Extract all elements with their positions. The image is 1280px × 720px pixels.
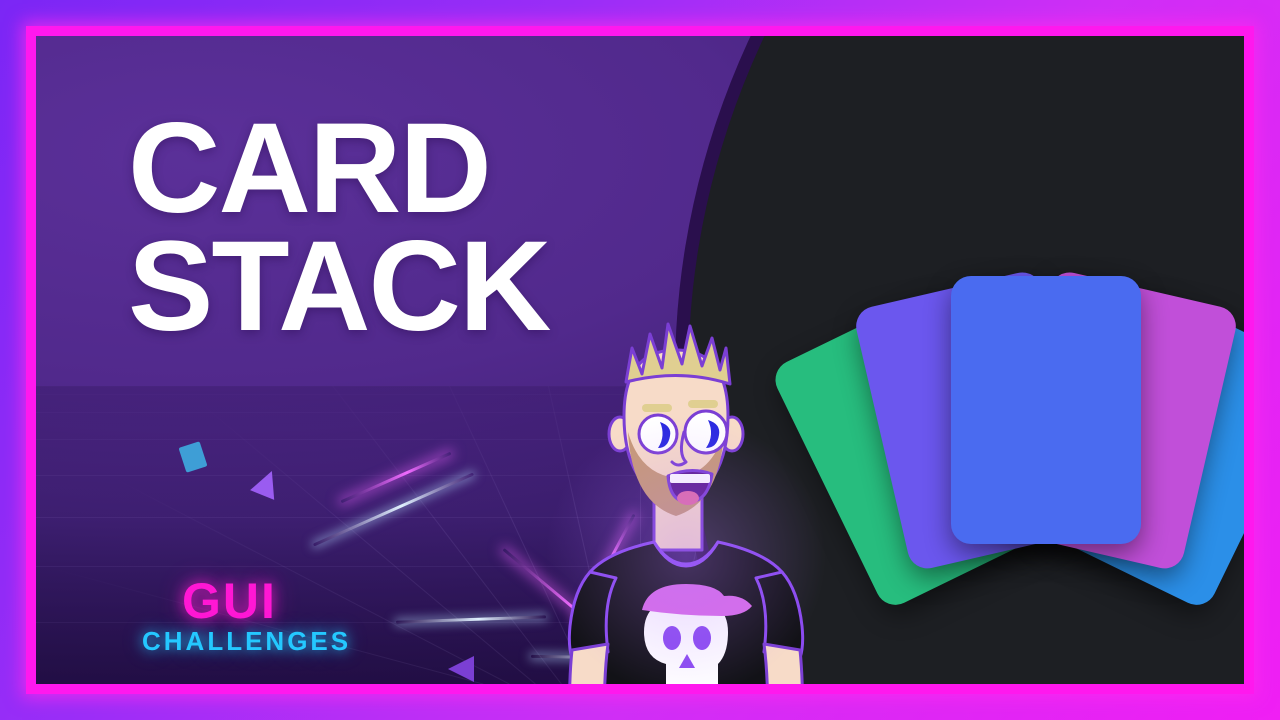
triangle-purple	[448, 656, 474, 682]
brand-logo: GUI CHALLENGES	[182, 576, 351, 654]
page-title: CARD STACK	[128, 110, 549, 346]
title-line-2: STACK	[128, 215, 549, 358]
avatar-backglow	[536, 406, 836, 684]
brand-logo-top: GUI	[182, 576, 351, 626]
thumbnail-canvas: CARD STACK GUI CHALLENGES	[0, 0, 1280, 720]
artboard: CARD STACK GUI CHALLENGES	[36, 36, 1244, 684]
card-stack[interactable]	[796, 236, 1244, 656]
brand-logo-bottom: CHALLENGES	[142, 628, 351, 654]
card-blue-front[interactable]	[951, 276, 1141, 544]
